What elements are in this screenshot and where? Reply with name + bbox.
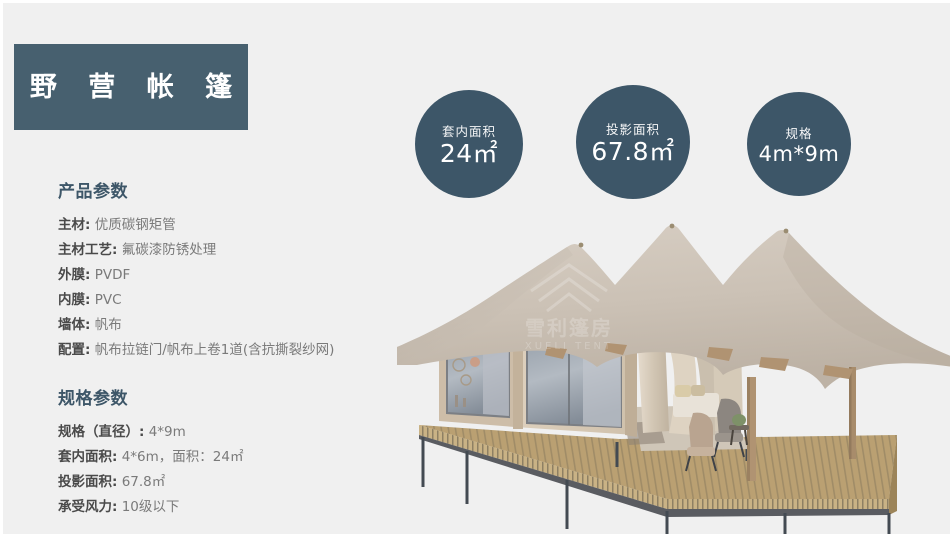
spec-label: 规格（直径）: [58,424,144,440]
spec-label: 墙体: [58,317,90,333]
badge-label: 套内面积 [442,121,496,140]
deck-edge-front [667,499,889,509]
product-params-heading: 产品参数 [58,177,418,202]
canopy-peak-center [670,224,675,229]
eave-bracket-4 [759,357,789,371]
spec-value: 帆布拉链门/帆布上卷1道(含抗撕裂纱网) [95,342,335,358]
table-plant [732,414,746,426]
bed-pillow-2 [691,385,705,396]
product-params-section: 产品参数 主材: 优质碳钢矩管 主材工艺: 氟碳漆防锈处理 外膜: PVDF 内… [58,177,418,363]
spec-value: 帆布 [95,317,122,333]
spec-label: 承受风力: [58,499,117,515]
page-title: 野 营 帐 篷 [19,74,243,101]
spec-label: 主材工艺: [58,242,117,258]
spec-row: 墙体: 帆布 [58,313,418,338]
chair-front-seat [687,447,715,456]
spec-value: PVC [95,292,122,308]
spec-value: PVDF [95,267,131,283]
spec-row: 内膜: PVC [58,288,418,313]
page-root: 野 营 帐 篷 产品参数 主材: 优质碳钢矩管 主材工艺: 氟碳漆防锈处理 外膜… [0,0,950,534]
badge-projected-area: 投影面积 67.8㎡ [576,85,690,199]
badge-value: 24㎡ [440,141,498,167]
spec-row: 主材工艺: 氟碳漆防锈处理 [58,238,418,263]
badge-value: 4m*9m [759,143,840,165]
size-params-heading: 规格参数 [58,384,418,409]
size-params-section: 规格参数 规格（直径）: 4*9m 套内面积: 4*6m，面积：24㎡ 投影面积… [58,384,418,520]
page-title-banner: 野 营 帐 篷 [14,44,248,130]
spec-label: 配置: [58,342,90,358]
badge-interior-area: 套内面积 24㎡ [415,90,523,198]
pole-far-right-shade [849,367,852,459]
spec-value: 优质碳钢矩管 [95,217,176,233]
canopy-peak-right [784,229,789,234]
tent-illustration-svg: 雪利篷房 XUELI TENT [397,199,950,534]
bed-pillow-1 [675,385,691,397]
tent-product-image: 雪利篷房 XUELI TENT [397,199,950,534]
spec-value: 4*9m [149,424,186,440]
spec-row: 规格（直径）: 4*9m [58,420,418,445]
watermark-brand-en: XUELI TENT [525,341,613,352]
badge-label: 规格 [785,123,812,142]
canopy-peak-left [579,243,584,248]
spec-label: 套内面积: [58,449,117,465]
spec-row: 投影面积: 67.8㎡ [58,470,418,495]
badge-dimensions: 规格 4m*9m [747,92,851,196]
spec-label: 投影面积: [58,474,117,490]
watermark-brand-cn: 雪利篷房 [525,316,613,340]
badge-label: 投影面积 [606,119,660,138]
curtain-left [483,346,509,416]
spec-row: 外膜: PVDF [58,263,418,288]
spec-value: 10级以下 [122,499,180,515]
spec-row: 配置: 帆布拉链门/帆布上卷1道(含抗撕裂纱网) [58,338,418,363]
spec-value: 67.8㎡ [122,474,166,490]
chair-rear-seat [715,433,743,442]
badge-value: 67.8㎡ [591,139,674,165]
spec-value: 4*6m，面积：24㎡ [122,449,244,465]
spec-value: 氟碳漆防锈处理 [122,242,217,258]
spec-label: 内膜: [58,292,90,308]
spec-row: 承受风力: 10级以下 [58,495,418,520]
spec-label: 外膜: [58,267,90,283]
chair-front-back [689,413,713,451]
spec-row: 主材: 优质碳钢矩管 [58,213,418,238]
spec-row: 套内面积: 4*6m，面积：24㎡ [58,445,418,470]
spec-label: 主材: [58,217,90,233]
